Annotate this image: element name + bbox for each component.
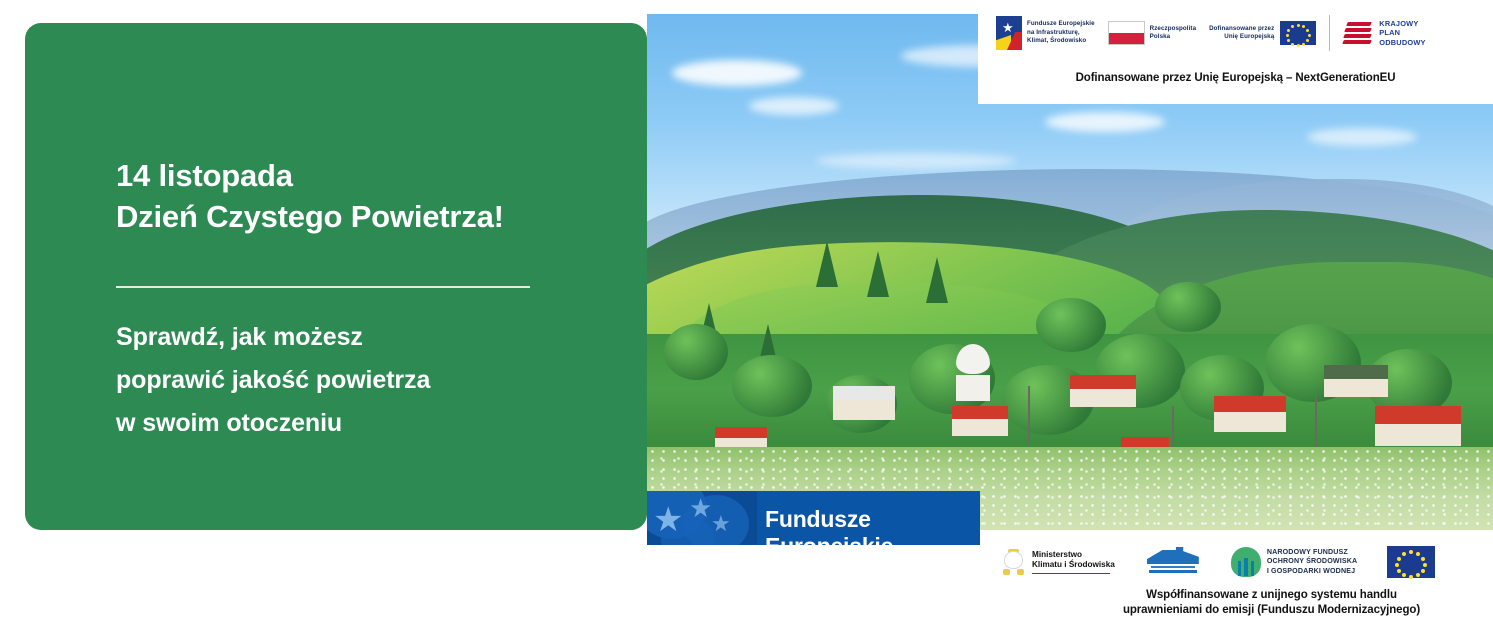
fundusze-europejskie-logo: ★ Fundusze Europejskie na Infrastrukturę… — [996, 16, 1095, 50]
subcopy-line-2: poprawić jakość powietrza — [116, 359, 430, 402]
subcopy-line-1: Sprawdź, jak możesz — [116, 316, 430, 359]
eu-flag-icon — [1280, 21, 1316, 45]
czyste-powietrze-caption-line-1 — [1151, 566, 1195, 568]
ministerstwo-caption-wrap: Ministerstwo Klimatu i Środowiska — [1032, 550, 1115, 574]
bottom-funding-caption: Współfinansowane z unijnego systemu hand… — [1050, 588, 1493, 618]
fe-strip-label: Fundusze Europejskie — [765, 506, 980, 545]
czyste-powietrze-caption-line-2 — [1149, 570, 1197, 573]
logo-divider — [1329, 15, 1330, 51]
fe-stars-graphic: ★ ★ ★ — [647, 491, 757, 545]
polish-eagle-icon — [1000, 549, 1027, 576]
bottom-logo-row: Ministerstwo Klimatu i Środowiska NARODO… — [1000, 538, 1493, 586]
utility-pole — [1315, 396, 1317, 452]
ministerstwo-underline — [1032, 573, 1110, 575]
top-funding-caption: Dofinansowane przez Unię Europejską – Ne… — [978, 72, 1493, 84]
rzeczpospolita-polska-caption: Rzeczpospolita Polska — [1150, 25, 1196, 42]
krajowy-plan-odbudowy-logo: KRAJOWY PLAN ODBUDOWY — [1343, 19, 1425, 48]
unia-europejska-caption: Dofinansowane przez Unię Europejską — [1209, 25, 1274, 42]
tree — [1036, 298, 1106, 352]
rzeczpospolita-polska-logo: Rzeczpospolita Polska — [1108, 21, 1196, 45]
cloud — [1307, 128, 1417, 146]
promo-banner: 14 listopada Dzień Czystego Powietrza! S… — [0, 0, 1493, 630]
conifer-tree — [867, 251, 889, 297]
top-logo-bar: ★ Fundusze Europejskie na Infrastrukturę… — [978, 0, 1493, 104]
fundusze-europejskie-strip: ★ ★ ★ Fundusze Europejskie — [647, 491, 980, 545]
nfosigw-logo: NARODOWY FUNDUSZ OCHRONY ŚRODOWISKA I GO… — [1231, 547, 1357, 577]
subcopy: Sprawdź, jak możesz poprawić jakość powi… — [116, 316, 430, 445]
star-icon: ★ — [689, 495, 712, 521]
kpo-caption: KRAJOWY PLAN ODBUDOWY — [1379, 19, 1425, 48]
eu-flag-icon — [1387, 546, 1435, 578]
unia-europejska-logo: Dofinansowane przez Unię Europejską — [1209, 21, 1316, 45]
house — [1070, 375, 1136, 407]
kpo-icon — [1343, 20, 1373, 46]
green-content-panel: 14 listopada Dzień Czystego Powietrza! S… — [25, 23, 647, 530]
headline-title: Dzień Czystego Powietrza! — [116, 196, 504, 237]
tree-icon — [1231, 547, 1261, 577]
tree — [664, 324, 728, 380]
church-dome — [956, 344, 990, 374]
polish-flag-icon — [1108, 21, 1145, 45]
fundusze-europejskie-caption: Fundusze Europejskie na Infrastrukturę, … — [1027, 20, 1095, 45]
star-icon: ★ — [711, 513, 731, 535]
nfosigw-caption: NARODOWY FUNDUSZ OCHRONY ŚRODOWISKA I GO… — [1267, 548, 1357, 576]
top-logo-row: ★ Fundusze Europejskie na Infrastrukturę… — [996, 10, 1476, 56]
tree — [732, 355, 812, 417]
utility-pole — [1028, 386, 1030, 444]
house — [1324, 365, 1388, 397]
ministerstwo-klimatu-logo: Ministerstwo Klimatu i Środowiska — [1000, 549, 1115, 576]
tree — [1155, 282, 1221, 332]
church-body — [956, 375, 990, 401]
house — [1214, 396, 1286, 432]
conifer-tree — [816, 241, 838, 287]
subcopy-line-3: w swoim otoczeniu — [116, 402, 430, 445]
bottom-caption-line-2: uprawnieniami do emisji (Funduszu Modern… — [1050, 603, 1493, 618]
page-title: 14 listopada Dzień Czystego Powietrza! — [116, 155, 504, 237]
cloud — [1045, 112, 1165, 132]
house — [833, 386, 895, 420]
house — [952, 406, 1008, 436]
czyste-powietrze-logo — [1145, 546, 1201, 578]
house — [1375, 406, 1461, 446]
ministerstwo-klimatu-caption: Ministerstwo Klimatu i Środowiska — [1032, 550, 1115, 571]
headline-date: 14 listopada — [116, 155, 504, 196]
conifer-tree — [926, 257, 948, 303]
star-icon: ★ — [653, 503, 683, 537]
fundusze-europejskie-icon: ★ — [996, 16, 1022, 50]
divider — [116, 286, 530, 288]
cloud — [749, 97, 839, 115]
bottom-caption-line-1: Współfinansowane z unijnego systemu hand… — [1050, 588, 1493, 603]
house-icon — [1147, 547, 1199, 564]
